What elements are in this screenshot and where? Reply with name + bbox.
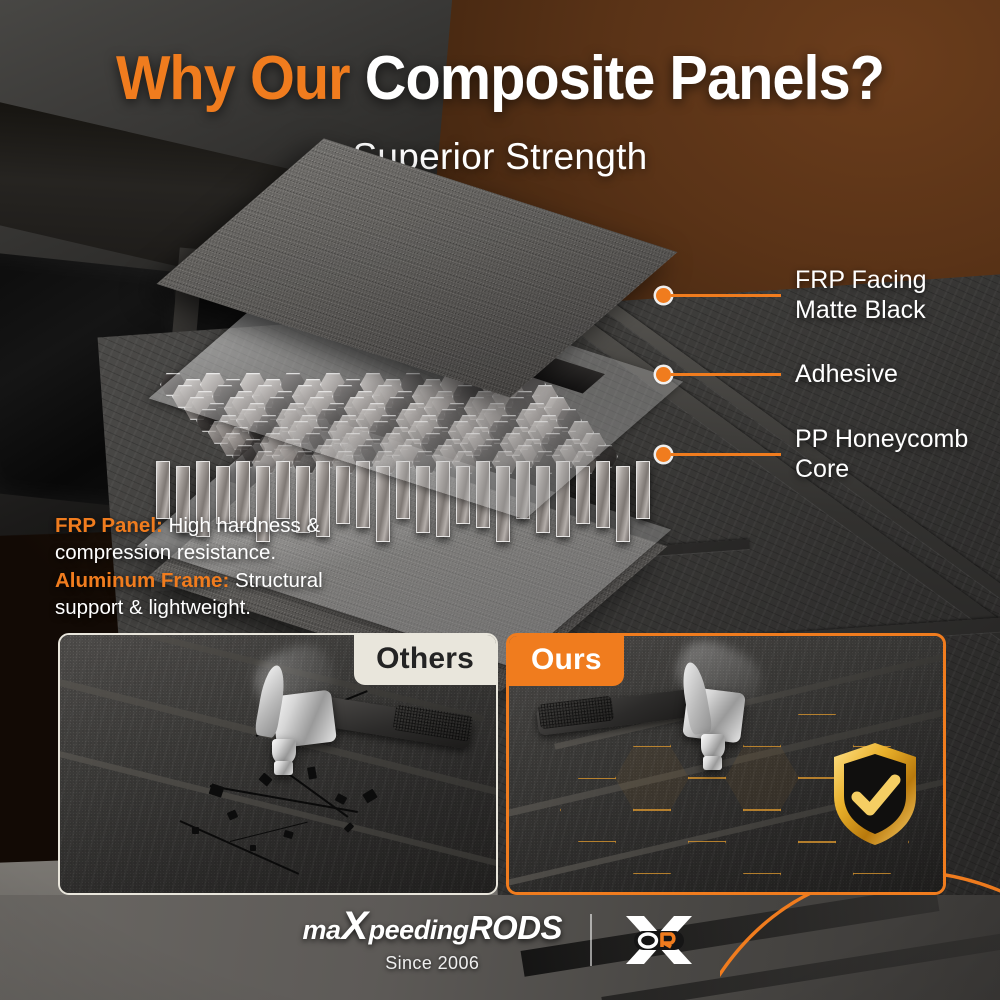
footer-branding: maXpeedingRODS Since 2006 xyxy=(0,906,1000,974)
callout-dot xyxy=(656,367,671,382)
feature-item: Aluminum Frame: Structural support & lig… xyxy=(55,567,395,622)
callout-label: FRP Facing Matte Black xyxy=(795,266,927,325)
oxr-logo xyxy=(620,914,698,966)
brand-prefix: ma xyxy=(302,917,340,944)
maxpeedingrods-logo: maXpeedingRODS Since 2006 xyxy=(302,906,562,974)
honeycomb-wall xyxy=(596,461,610,528)
footer-divider xyxy=(590,914,592,966)
shield-check-icon xyxy=(829,740,921,848)
comparison-card-others[interactable]: Others xyxy=(58,633,498,895)
callout-label: Adhesive xyxy=(795,360,898,390)
page-title: Why Our Composite Panels? xyxy=(35,48,965,110)
badge-ours: Ours xyxy=(509,636,624,686)
brand-suffix: RODS xyxy=(469,911,562,944)
callout-frp-facing: FRP Facing Matte Black xyxy=(656,266,927,325)
title-accent: Why Our xyxy=(116,44,350,113)
brand-since: Since 2006 xyxy=(385,953,479,974)
honeycomb-wall xyxy=(156,461,170,519)
brand-wordmark: maXpeedingRODS xyxy=(302,906,562,946)
brand-x: X xyxy=(340,906,368,946)
callout-label: PP Honeycomb Core xyxy=(795,425,968,484)
brand-mid: peeding xyxy=(369,917,469,944)
debris xyxy=(192,827,199,834)
honeycomb-wall xyxy=(276,461,290,519)
feature-item: FRP Panel: High hardness & compression r… xyxy=(55,512,395,567)
callout-dot xyxy=(656,288,671,303)
callout-dot xyxy=(656,447,671,462)
feature-list: FRP Panel: High hardness & compression r… xyxy=(55,512,395,622)
top-frp-panel xyxy=(182,193,652,343)
callout-leader-line xyxy=(671,453,781,456)
feature-key: FRP Panel: xyxy=(55,514,163,537)
hammer-face xyxy=(703,756,722,770)
page-subtitle: Superior Strength xyxy=(0,136,1000,178)
callout-pp-honeycomb-core: PP Honeycomb Core xyxy=(656,425,968,484)
callout-adhesive: Adhesive xyxy=(656,360,898,390)
debris xyxy=(250,845,256,851)
honeycomb-wall xyxy=(636,461,650,519)
feature-key: Aluminum Frame: xyxy=(55,569,229,592)
callout-leader-line xyxy=(671,373,781,376)
honeycomb-wall xyxy=(576,466,590,524)
hammer-face xyxy=(274,761,293,775)
comparison-card-ours[interactable]: Ours xyxy=(506,633,946,895)
honeycomb-wall xyxy=(616,466,630,542)
badge-others: Others xyxy=(354,635,496,685)
product-infographic: Why Our Composite Panels? Superior Stren… xyxy=(0,0,1000,1000)
title-rest: Composite Panels? xyxy=(365,44,884,113)
callout-leader-line xyxy=(671,294,781,297)
